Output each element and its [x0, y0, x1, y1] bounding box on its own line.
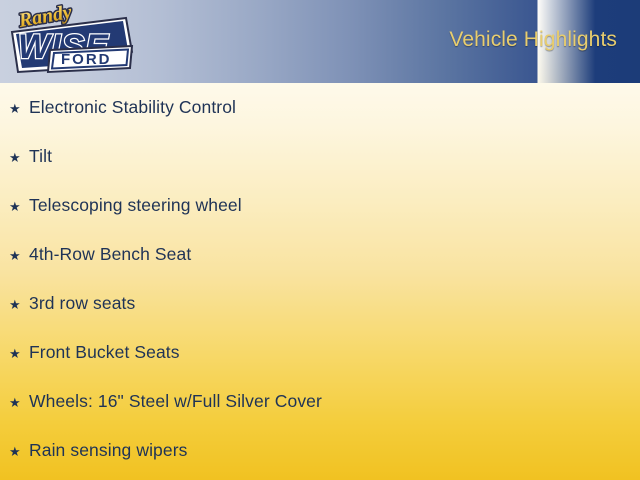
list-item: ★ Front Bucket Seats — [0, 342, 640, 391]
list-item: ★ Electronic Stability Control — [0, 97, 640, 146]
list-item: ★ Telescoping steering wheel — [0, 195, 640, 244]
list-item: ★ Wheels: 16" Steel w/Full Silver Cover — [0, 391, 640, 440]
star-icon: ★ — [9, 396, 29, 409]
list-item-label: Tilt — [29, 146, 52, 167]
list-item-label: Rain sensing wipers — [29, 440, 188, 461]
logo-ford-banner: FORD — [48, 46, 132, 72]
list-item-label: Electronic Stability Control — [29, 97, 236, 118]
list-item-label: 4th-Row Bench Seat — [29, 244, 191, 265]
star-icon: ★ — [9, 445, 29, 458]
list-item: ★ 4th-Row Bench Seat — [0, 244, 640, 293]
star-icon: ★ — [9, 347, 29, 360]
list-item-label: 3rd row seats — [29, 293, 135, 314]
page-title: Vehicle Highlights — [449, 28, 617, 52]
star-icon: ★ — [9, 249, 29, 262]
star-icon: ★ — [9, 200, 29, 213]
list-item: ★ 3rd row seats — [0, 293, 640, 342]
list-item-label: Wheels: 16" Steel w/Full Silver Cover — [29, 391, 322, 412]
vehicle-highlights-list: ★ Electronic Stability Control ★ Tilt ★ … — [0, 83, 640, 480]
star-icon: ★ — [9, 151, 29, 164]
dealer-logo-svg: WISE WISE Randy Randy FORD — [4, 2, 136, 80]
list-item-label: Telescoping steering wheel — [29, 195, 242, 216]
star-icon: ★ — [9, 298, 29, 311]
list-item-label: Front Bucket Seats — [29, 342, 180, 363]
dealer-logo: WISE WISE Randy Randy FORD — [4, 2, 136, 80]
logo-ford-text: FORD — [61, 51, 112, 68]
list-item: ★ Rain sensing wipers — [0, 440, 640, 480]
list-item: ★ Tilt — [0, 146, 640, 195]
star-icon: ★ — [9, 102, 29, 115]
header-bar: WISE WISE Randy Randy FORD Vehicle Highl… — [0, 0, 640, 83]
